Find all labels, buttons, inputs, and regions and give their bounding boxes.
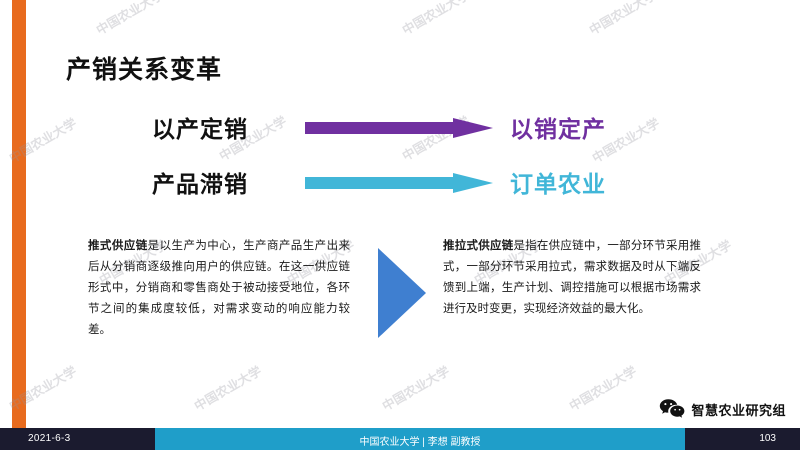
row-2-left-label: 产品滞销 [152,165,248,199]
left-box-body: 是以生产为中心，生产商产品生产出来后从分销商逐级推向用户的供应链。在这一供应链形… [88,240,350,336]
left-box-lead: 推式供应链 [88,240,148,252]
row-2-right-label: 订单农业 [510,165,606,199]
watermark-text: 中国农业大学 [565,360,639,414]
watermark-text: 中国农业大学 [92,0,166,38]
watermark-text: 中国农业大学 [378,360,452,414]
relation-row-2: 产品滞销 订单农业 [0,165,800,199]
relation-row-1: 以产定销 以销定产 [0,110,800,144]
row-1-left-label: 以产定销 [152,110,248,144]
center-arrow-icon [378,248,426,338]
slide: 中国农业大学中国农业大学中国农业大学中国农业大学中国农业大学中国农业大学中国农业… [0,0,800,450]
right-description-box: 推拉式供应链是指在供应链中，一部分环节采用推式，一部分环节采用拉式，需求数据及时… [443,236,701,320]
page-title: 产销关系变革 [66,50,222,86]
footer-page-number: 103 [759,433,776,444]
row-1-right-label: 以销定产 [510,110,606,144]
left-description-box: 推式供应链是以生产为中心，生产商产品生产出来后从分销商逐级推向用户的供应链。在这… [88,236,350,341]
right-box-lead: 推拉式供应链 [443,240,513,252]
watermark-text: 中国农业大学 [190,360,264,414]
watermark-text: 中国农业大学 [585,0,659,38]
row-1-arrow-icon [305,118,493,138]
row-2-arrow-icon [305,173,493,193]
footer-author: 中国农业大学 | 李想 副教授 [155,433,685,448]
footer-bar: 2021-6-3 中国农业大学 | 李想 副教授 103 [0,428,800,450]
footer-date: 2021-6-3 [28,433,70,444]
left-orange-bar [12,0,26,435]
watermark-text: 中国农业大学 [398,0,472,38]
wechat-label: 智慧农业研究组 [691,400,786,419]
wechat-badge: 智慧农业研究组 [659,398,786,420]
wechat-icon [659,398,685,420]
